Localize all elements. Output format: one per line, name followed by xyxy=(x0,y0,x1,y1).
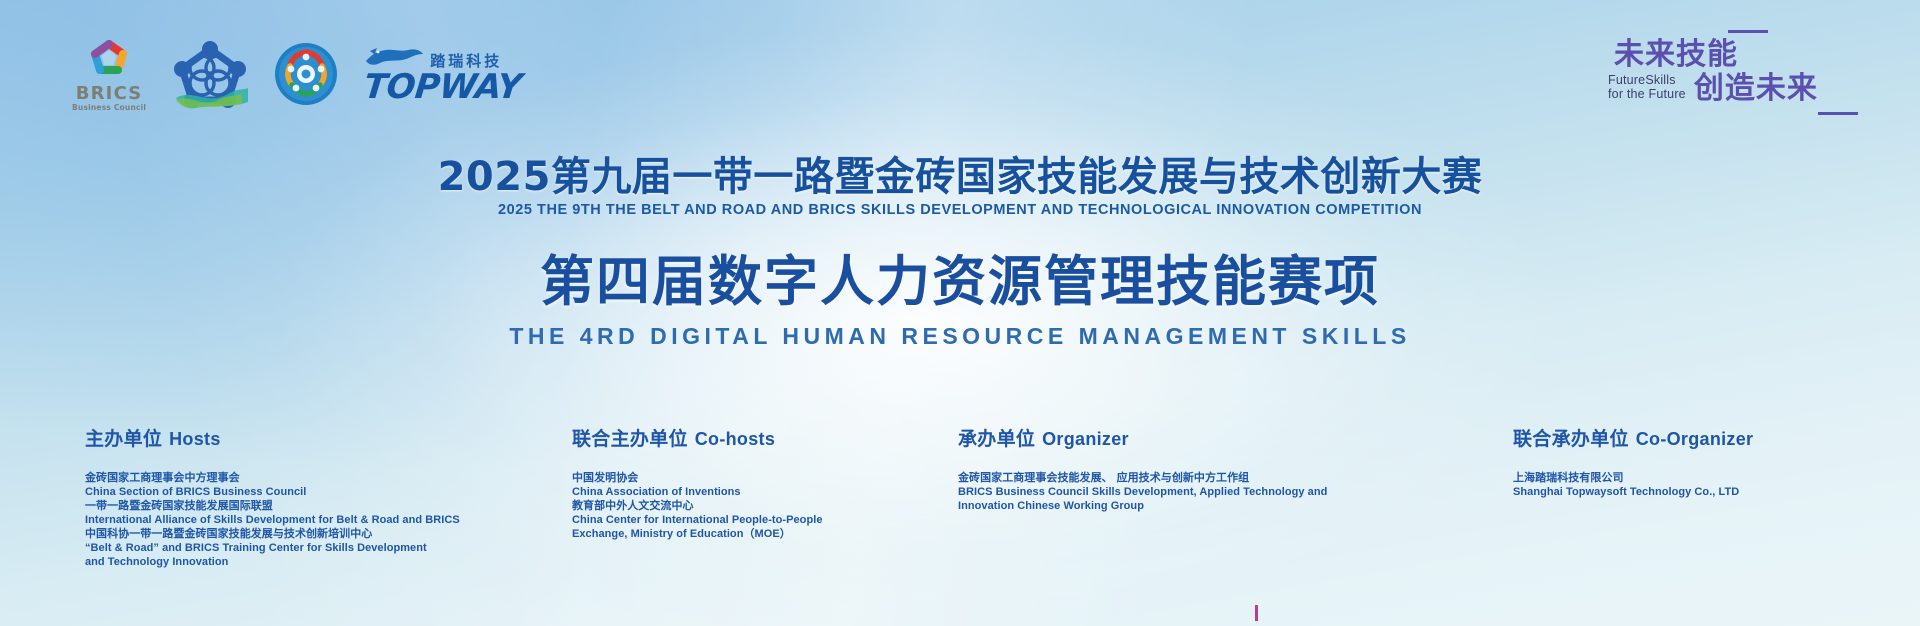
column-heading-cn: 承办单位 xyxy=(958,428,1035,450)
brics-subtitle: Business Council xyxy=(72,104,146,112)
brics-business-council-logo: BRICS Business Council xyxy=(72,36,146,112)
org-line: International Alliance of Skills Develop… xyxy=(85,513,460,527)
future-skills-mark: 未来技能 FutureSkills for the Future 创造未来 xyxy=(1608,30,1858,121)
organizer-columns: 主办单位 Hosts 金砖国家工商理事会中方理事会 China Section … xyxy=(0,430,1920,620)
topway-wordmark: TOPWAY xyxy=(362,71,523,103)
topway-logo: 踏瑞科技 TOPWAY xyxy=(364,45,521,103)
org-line: 一带一路暨金砖国家技能发展国际联盟 xyxy=(85,499,460,513)
column-heading-cn: 主办单位 xyxy=(85,428,162,450)
column-heading-cn: 联合承办单位 xyxy=(1513,428,1629,450)
column-body: 中国发明协会 China Association of Inventions 教… xyxy=(572,471,822,541)
event-banner: BRICS Business Council xyxy=(0,0,1920,626)
org-line: China Center for International People-to… xyxy=(572,513,822,527)
org-line: Shanghai Topwaysoft Technology Co., LTD xyxy=(1513,485,1753,499)
sub-title-en: THE 4RD DIGITAL HUMAN RESOURCE MANAGEMEN… xyxy=(0,323,1920,350)
org-line: 教育部中外人文交流中心 xyxy=(572,499,822,513)
main-title-cn: 2025第九届一带一路暨金砖国家技能发展与技术创新大赛 xyxy=(0,155,1920,200)
org-line: 中国发明协会 xyxy=(572,471,822,485)
organizer-column-coorganizer: 联合承办单位 Co-Organizer 上海踏瑞科技有限公司 Shanghai … xyxy=(1513,430,1753,499)
fs-rule-bottom xyxy=(1818,112,1858,115)
organizer-column-cohosts: 联合主办单位 Co-hosts 中国发明协会 China Association… xyxy=(572,430,822,541)
fs-rule-top xyxy=(1728,30,1768,33)
future-skills-line1: 未来技能 xyxy=(1614,39,1858,71)
brics-wordmark: BRICS xyxy=(76,85,143,103)
text-cursor-artifact xyxy=(1255,605,1258,621)
column-heading-en: Organizer xyxy=(1042,429,1129,449)
org-line: China Section of BRICS Business Council xyxy=(85,485,460,499)
skills-alliance-emblem xyxy=(172,38,248,110)
main-title-en: 2025 THE 9TH THE BELT AND ROAD AND BRICS… xyxy=(0,202,1920,218)
org-line: 金砖国家工商理事会中方理事会 xyxy=(85,471,460,485)
organizer-column-hosts: 主办单位 Hosts 金砖国家工商理事会中方理事会 China Section … xyxy=(85,430,460,570)
org-line: China Association of Inventions xyxy=(572,485,822,499)
column-heading-en: Co-Organizer xyxy=(1636,429,1754,449)
org-line: 上海踏瑞科技有限公司 xyxy=(1513,471,1753,485)
title-block: 2025第九届一带一路暨金砖国家技能发展与技术创新大赛 2025 THE 9TH… xyxy=(0,155,1920,350)
column-heading-cn: 联合主办单位 xyxy=(572,428,688,450)
future-skills-line2: 创造未来 xyxy=(1694,73,1818,105)
column-heading: 承办单位 Organizer xyxy=(958,430,1327,449)
column-heading: 联合承办单位 Co-Organizer xyxy=(1513,430,1753,449)
column-heading: 主办单位 Hosts xyxy=(85,430,460,449)
organizer-column-organizer: 承办单位 Organizer 金砖国家工商理事会技能发展、 应用技术与创新中方工… xyxy=(958,430,1327,513)
org-line: “Belt & Road” and BRICS Training Center … xyxy=(85,541,460,555)
column-heading-en: Hosts xyxy=(169,429,221,449)
org-line: 金砖国家工商理事会技能发展、 应用技术与创新中方工作组 xyxy=(958,471,1327,485)
org-line: BRICS Business Council Skills Developmen… xyxy=(958,485,1327,499)
org-line: Innovation Chinese Working Group xyxy=(958,499,1327,513)
logo-row: BRICS Business Council xyxy=(72,36,522,112)
brics-star-icon xyxy=(83,36,135,84)
column-heading-en: Co-hosts xyxy=(695,429,775,449)
column-heading: 联合主办单位 Co-hosts xyxy=(572,430,822,449)
sub-title-cn: 第四届数字人力资源管理技能赛项 xyxy=(0,250,1920,315)
org-line: 中国科协一带一路暨金砖国家技能发展与技术创新培训中心 xyxy=(85,527,460,541)
brics-skills-star-emblem xyxy=(274,42,338,106)
column-body: 金砖国家工商理事会中方理事会 China Section of BRICS Bu… xyxy=(85,471,460,570)
column-body: 金砖国家工商理事会技能发展、 应用技术与创新中方工作组 BRICS Busine… xyxy=(958,471,1327,513)
column-body: 上海踏瑞科技有限公司 Shanghai Topwaysoft Technolog… xyxy=(1513,471,1753,499)
org-line: and Technology Innovation xyxy=(85,555,460,569)
future-skills-english: FutureSkills for the Future xyxy=(1608,73,1686,104)
org-line: Exchange, Ministry of Education（MOE） xyxy=(572,527,822,541)
